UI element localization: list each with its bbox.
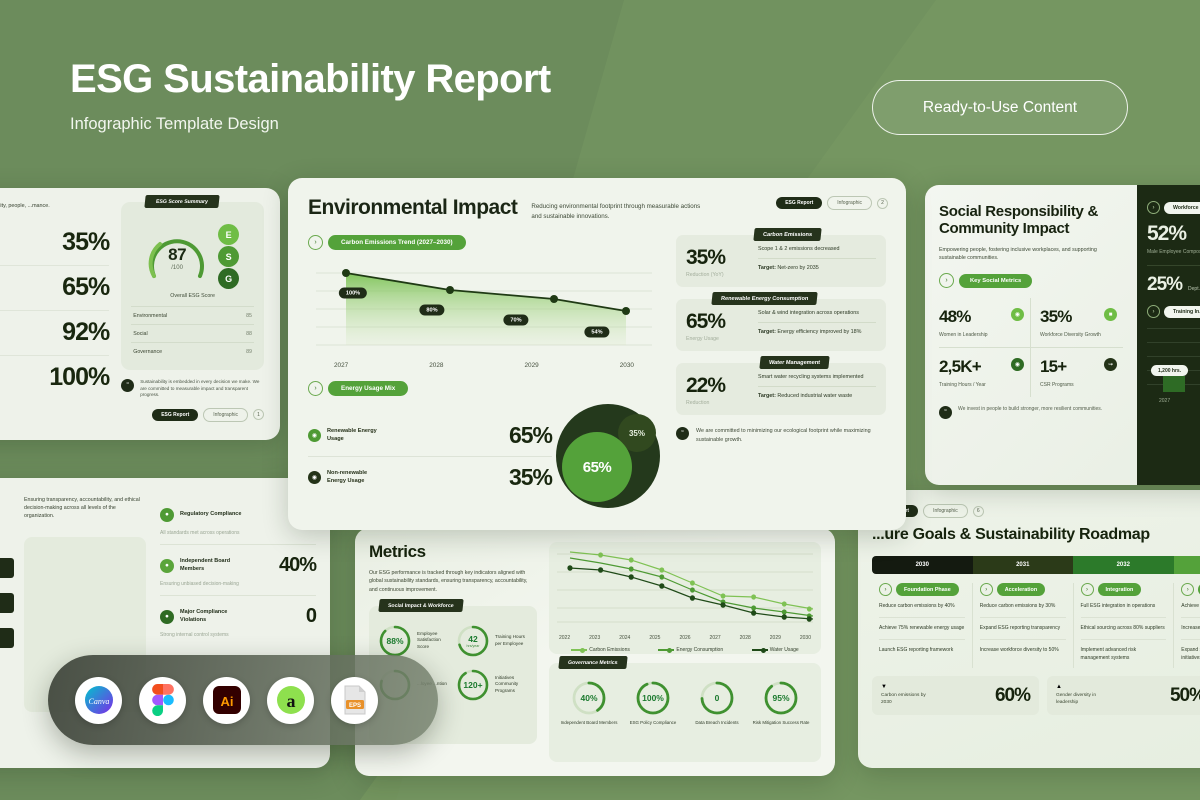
footer-stat: ▲ Gender diversity in leadership 50% [1047,676,1200,714]
governance-description: Ensuring transparency, accountability, a… [24,496,146,521]
breakdown-label: Environmental [133,313,167,319]
mix-label: Renewable Energy Usage [327,427,387,443]
fuel-icon: ◉ [308,471,321,484]
quote-icon: “ [939,406,952,419]
x-tick: 2027 [710,635,721,641]
shield-icon: ● [160,508,174,522]
progress-ring: 0 [699,680,735,716]
mix-row: ◉ Renewable Energy Usage 65% [308,415,552,456]
chevron-right-icon[interactable]: › [980,583,993,596]
item-value: 40% [279,554,316,577]
esg-trend-chart: 2022 2023 2024 2025 2026 2027 2028 2029 … [549,542,821,654]
footer-label: Gender diversity in leadership [1056,693,1108,706]
people-icon: ● [160,559,174,573]
ring-value: 0 [715,693,720,703]
x-tick: 2028 [740,635,751,641]
flow-node: ...cutive Management [0,593,14,613]
stat-unit: Reduction (YoY) [686,272,748,278]
progress-ring: 40% [571,680,607,716]
item-value: 0 [306,605,316,628]
ring-label: Independent Board Members [557,720,621,727]
x-tick: 2029 [770,635,781,641]
row-value: 35% [62,228,109,257]
roadmap-item: Full ESG integration in operations [1081,596,1167,618]
bubble-renewable: 65% [562,432,632,502]
ring-label: Training Hours per Employee [495,634,528,648]
x-tick: 2025 [649,635,660,641]
mix-value: 35% [509,464,552,491]
chart-x-axis: 2027 2028 2029 2030 [308,362,660,369]
stat-target: Energy efficiency improved by 18% [776,329,862,335]
roadmap-item: Expand ESG reporting transparency [980,618,1066,640]
metric-cell: 15+ CSR Programs ⇝ [1031,347,1123,397]
training-pill[interactable]: Training In... [1164,306,1200,318]
chevron-right-icon[interactable]: › [879,583,892,596]
chevron-right-icon[interactable]: › [308,381,323,396]
stat-tag: Renewable Energy Consumption [711,292,818,305]
card-badges: ESG Report Infographic 6 [872,504,1200,518]
panel-caption-1: Male Employee Composition [1147,249,1200,256]
stat-card-carbon-emissions: Carbon Emissions 35% Reduction (YoY) Sco… [676,235,886,287]
chart-legend: Carbon Emissions Energy Consumption Wate… [557,647,813,653]
ring-label: Employee Satisfaction Score [417,631,450,652]
page-subtitle: Infographic Template Design [70,115,551,134]
card-esg-overview: ...able impact across sustainability, pe… [0,188,280,440]
metric-value: 48% [939,307,1021,327]
stat-target-label: Target: [758,329,776,335]
roadmap-item: Achieve 75% renewable energy usage [879,618,965,640]
mix-row: ◉ Non-renewable Energy Usage 35% [308,456,552,498]
x-tick: 2026 [679,635,690,641]
illustrator-icon[interactable]: Ai [203,677,250,724]
governance-title: ...cture ...hip [0,494,14,511]
legend-label: Energy Consumption [676,647,723,653]
legend-item: Energy Consumption [658,647,723,653]
list-item: ● Major Compliance Violations 0 Strong i… [160,596,316,646]
governance-metrics-panel: Governance Metrics 40% Independent Board… [549,663,821,762]
quote-text: We invest in people to build stronger, m… [958,406,1102,414]
metric-cell: 2,5K+ Training Hours / Year ◉ [939,347,1031,397]
footer-value: 60% [995,685,1030,707]
point-label: 54% [584,327,609,338]
metric-label: Workforce Diversity Growth [1040,332,1119,338]
breakdown-value: 88 [246,331,252,337]
carbon-trend-pill[interactable]: Carbon Emissions Trend (2027–2030) [328,235,466,250]
phase-pill[interactable]: Acceleration [997,583,1045,596]
flow-node [0,628,14,648]
card-roadmap: ESG Report Infographic 6 ...ure Goals & … [858,490,1200,768]
item-note: All standards met across operations [160,530,316,536]
roadmap-item: Reduce carbon emissions by 30% [980,596,1066,618]
quote-icon: “ [676,427,689,440]
metric-label: Training Hours / Year [939,382,1021,388]
roadmap-column: › Integration Full ESG integration in op… [1073,583,1174,668]
ring-metric: 88% Employee Satisfaction Score [378,624,450,658]
point-label: 100% [339,288,367,299]
ring-metric: 100% ESG Policy Compliance [621,680,685,727]
quote-text: We are committed to minimizing our ecolo… [696,427,886,444]
carbon-emissions-line-chart: 100% 80% 70% 54% 2027 2028 2029 2030 [308,259,660,367]
roadmap-item: Increase workforce diversity by 40% [1181,618,1200,640]
badge-page-number: 1 [253,409,264,420]
ready-to-use-badge[interactable]: Ready-to-Use Content [872,80,1128,135]
progress-ring: 88% [378,624,412,658]
ring-metric: 95% Risk Mitigation Success Rate [749,680,813,727]
esg-score-caption: Overall ESG Score [131,293,254,299]
stat-card-water-management: Water Management 22% Reduction Smart wat… [676,363,886,415]
ring-label: Risk Mitigation Success Rate [749,720,813,727]
mix-label: Non-renewable Energy Usage [327,469,387,485]
stat-line-1: Solar & wind integration across operatio… [758,310,876,323]
mix-value: 65% [509,422,552,449]
card-badges: ESG Report Infographic 1 [121,408,264,422]
training-bar-chart: 1,200 hrs. 2027 [1147,328,1200,402]
footer-stat: ▼ Carbon emissions by 2030 60% [872,676,1039,714]
legend-item: Carbon Emissions [571,647,630,653]
figma-icon[interactable] [139,677,186,724]
ring-value: 100% [642,693,664,703]
legend-label: Carbon Emissions [589,647,630,653]
stat-card-renewable-energy: Renewable Energy Consumption 65% Energy … [676,299,886,351]
badge-esg-report[interactable]: ESG Report [776,197,822,209]
social-title: Social Responsibility & Community Impact [939,203,1123,238]
badge-infographic[interactable]: Infographic [923,504,968,518]
footer-label: Carbon emissions by 2030 [881,693,933,706]
esg-letter-e: E [218,224,239,245]
row-value: 65% [62,273,109,302]
breakdown-value: 85 [246,313,252,319]
score-summary-tag: ESG Score Summary [145,195,220,208]
card-badges: ESG Report Infographic 2 [776,196,888,210]
bar-segment [1163,376,1185,392]
badge-infographic[interactable]: Infographic [203,408,248,422]
energy-bubble-chart: 35% 65% [556,404,660,508]
footer-value: 50% [1170,685,1200,707]
environmental-quote: “ We are committed to minimizing our eco… [676,427,886,444]
card-environmental-impact: Environmental Impact Reducing environmen… [288,178,906,530]
stat-value: 65% [686,310,748,334]
svg-text:Ai: Ai [220,694,233,709]
roadmap-item: Implement advanced risk management syste… [1081,640,1167,669]
card-metrics: Metrics Our ESG performance is tracked t… [355,528,835,776]
esg-intro-text: ...able impact across sustainability, pe… [0,202,109,210]
svg-text:EPS: EPS [348,703,360,709]
quote-text: Sustainability is embedded in every deci… [140,379,264,399]
stat-target: Net-zero by 2035 [776,265,819,271]
governance-metrics-tag: Governance Metrics [558,656,627,669]
item-note: Ensuring unbiased decision-making [160,581,316,587]
item-name: Regulatory Compliance [180,511,241,519]
environmental-title: Environmental Impact [308,196,517,220]
year-cell: 2032 [1073,556,1174,574]
stat-line-1: Smart water recycling systems implemente… [758,374,876,387]
canva-icon[interactable]: Canva [75,677,122,724]
x-tick: 2028 [429,362,443,369]
card-social-responsibility: Social Responsibility & Community Impact… [925,185,1200,485]
stat-value: 22% [686,374,748,398]
badge-infographic[interactable]: Infographic [827,196,872,210]
chevron-right-icon[interactable]: › [1181,583,1194,596]
svg-text:Canva: Canva [88,697,109,706]
table-row: ...e Energy ...duction 65% [0,266,109,311]
stat-unit: Energy Usage [686,336,748,342]
ring-value: 95% [772,693,789,703]
metrics-title: Metrics [369,542,537,562]
social-impact-tag: Social Impact & Workforce [378,599,463,612]
page-title: ESG Sustainability Report [70,58,551,101]
flow-node: Board of Directors [0,558,14,578]
progress-ring: 42 hrs/year [456,624,490,658]
svg-text:a: a [286,691,295,711]
x-tick: 2022 [559,635,570,641]
roadmap-column: › Acceleration Reduce carbon emissions b… [972,583,1073,668]
social-metrics-grid: 48% Women in Leadership ◉ 35% Workforce … [939,298,1123,397]
leaf-icon: ◉ [308,429,321,442]
breakdown-row: Governance 89 [131,342,254,360]
chevron-right-icon[interactable]: › [939,273,954,288]
esg-score-summary-box: ESG Score Summary 87 /100 [121,202,264,370]
year-cell: 2031 [973,556,1074,574]
esg-letter-stack: E S G [218,224,239,289]
key-social-metrics-pill[interactable]: Key Social Metrics [959,274,1032,288]
esg-quote: “ Sustainability is embedded in every de… [121,379,264,399]
ring-value: 120+ [463,680,482,690]
panel-value-2: 25% [1147,274,1182,296]
point-label: 70% [503,315,528,326]
roadmap-column: › Foundation Phase Reduce carbon emissio… [872,583,972,668]
x-tick: 2024 [619,635,630,641]
x-tick: 2030 [800,635,811,641]
workforce-pill[interactable]: Workforce [1164,202,1200,214]
page-header: ESG Sustainability Report Infographic Te… [70,58,551,134]
ring-value: 88% [386,636,403,646]
alert-icon: ● [160,610,174,624]
stat-unit: Reduction [686,400,748,406]
x-tick: 2023 [589,635,600,641]
stat-target-label: Target: [758,265,776,271]
badge-esg-report[interactable]: ESG Report [152,409,198,421]
ring-value: 42 [468,634,477,644]
metric-cell: 35% Workforce Diversity Growth ■ [1031,298,1123,347]
chart-x-axis: 2022 2023 2024 2025 2026 2027 2028 2029 … [557,635,813,641]
affinity-icon[interactable]: a [267,677,314,724]
energy-mix-pill[interactable]: Energy Usage Mix [328,381,408,396]
ring-metric: 120+ Initiatives Community Programs [456,668,528,702]
year-cell: 2030 [872,556,973,574]
ring-metric: 40% Independent Board Members [557,680,621,727]
roadmap-item: Launch ESG reporting framework [879,640,965,661]
esg-score-gauge: 87 /100 [146,230,208,284]
metrics-description: Our ESG performance is tracked through k… [369,569,537,594]
year-cell: 2033 [1174,556,1200,574]
legend-item: Water Usage [752,647,799,653]
esg-letter-g: G [218,268,239,289]
social-description: Empowering people, fostering inclusive w… [939,246,1123,262]
clock-icon: ◉ [1011,358,1024,371]
roadmap-column: › Optimization Achieve zero waste to lan… [1173,583,1200,668]
legend-label: Water Usage [770,647,799,653]
row-value: 100% [49,363,109,392]
stat-line-1: Scope 1 & 2 emissions decreased [758,246,876,259]
stat-value: 35% [686,246,748,270]
esg-score-value: 87 [168,245,186,265]
roadmap-columns: › Foundation Phase Reduce carbon emissio… [872,583,1200,668]
breakdown-row: Environmental 85 [131,306,254,324]
target-icon: ◉ [1011,308,1024,321]
metric-value: 2,5K+ [939,357,1021,377]
stat-target: Reduced industrial water waste [776,393,852,399]
roadmap-year-bar: 2030 2031 2032 2033 [872,556,1200,574]
breakdown-row: Social 88 [131,324,254,342]
arrow-down-icon: ▼ [881,684,933,690]
app-format-dock: Canva Ai a EPS [48,655,438,745]
energy-usage-mix: › Energy Usage Mix ◉ Renewable Energy Us… [308,381,660,508]
stat-target-label: Target: [758,393,776,399]
item-name: Independent Board Members [180,558,246,573]
breakdown-label: Social [133,331,147,337]
breakdown-label: Governance [133,349,162,355]
metric-label: CSR Programs [1040,382,1119,388]
ring-unit: hrs/year [467,644,480,648]
ring-value: 40% [580,693,597,703]
chevron-right-icon[interactable]: › [1147,305,1160,318]
progress-ring: 100% [635,680,671,716]
chevron-right-icon[interactable]: › [1081,583,1094,596]
list-item: ● Independent Board Members 40% Ensuring… [160,545,316,596]
ring-label: Data Breach Incidents [685,720,749,727]
item-note: Strong internal control systems [160,632,316,638]
stat-tag: Carbon Emissions [753,228,821,241]
ring-metric: 42 hrs/year Training Hours per Employee [456,624,528,658]
progress-ring: 120+ [456,668,490,702]
roadmap-title: ...ure Goals & Sustainability Roadmap [872,526,1200,544]
bar-value-label: 1,200 hrs. [1151,365,1188,376]
arrow-up-icon: ▲ [1056,684,1108,690]
roadmap-footer: ▼ Carbon emissions by 2030 60% ▲ Gender … [872,676,1200,714]
bar-year-label: 2027 [1159,398,1170,404]
eps-file-icon[interactable]: EPS [331,677,378,724]
roadmap-item: Expand sustainable supply chain initiati… [1181,640,1200,669]
breakdown-value: 89 [246,349,252,355]
table-row: ...ce ...rds Met 100% [0,356,109,400]
point-label: 80% [419,305,444,316]
table-row: ...Satisfaction ...ore 92% [0,311,109,356]
social-quote: “ We invest in people to build stronger,… [939,406,1123,419]
progress-ring: 95% [763,680,799,716]
roadmap-item: Reduce carbon emissions by 40% [879,596,965,618]
metric-cell: 48% Women in Leadership ◉ [939,298,1031,347]
ring-metric: 0 Data Breach Incidents [685,680,749,727]
governance-flow-diagram: Board of Directors ↓ ...cutive Managemen… [0,558,14,648]
roadmap-item: Increase workforce diversity to 50% [980,640,1066,661]
esg-score-denominator: /100 [171,265,183,271]
badge-page-number: 2 [877,198,888,209]
panel-caption-2: Dept. Diversity [1188,286,1200,293]
roadmap-item: Ethical sourcing across 80% suppliers [1081,618,1167,640]
roadmap-item: Achieve zero waste to landfill [1181,596,1200,618]
esg-letter-s: S [218,246,239,267]
item-name: Major Compliance Violations [180,609,246,624]
panel-value-1: 52% [1147,222,1200,246]
ring-label: Initiatives Community Programs [495,675,528,696]
badge-page-number: 6 [973,506,984,517]
chevron-right-icon[interactable]: › [308,235,323,250]
environmental-description: Reducing environmental footprint through… [531,196,703,221]
chevron-right-icon[interactable]: › [1147,201,1160,214]
x-tick: 2029 [525,362,539,369]
metric-label: Women in Leadership [939,332,1021,338]
row-value: 92% [62,318,109,347]
phase-pill[interactable]: Integration [1098,583,1142,596]
stat-tag: Water Management [759,356,829,369]
social-dark-panel: › Workforce 52% Male Employee Compositio… [1137,185,1200,485]
phase-pill[interactable]: Foundation Phase [896,583,959,596]
x-tick: 2030 [620,362,634,369]
quote-icon: “ [121,379,134,392]
table-row: ...issions ...duction 35% [0,221,109,266]
x-tick: 2027 [334,362,348,369]
ring-label: ESG Policy Compliance [621,720,685,727]
